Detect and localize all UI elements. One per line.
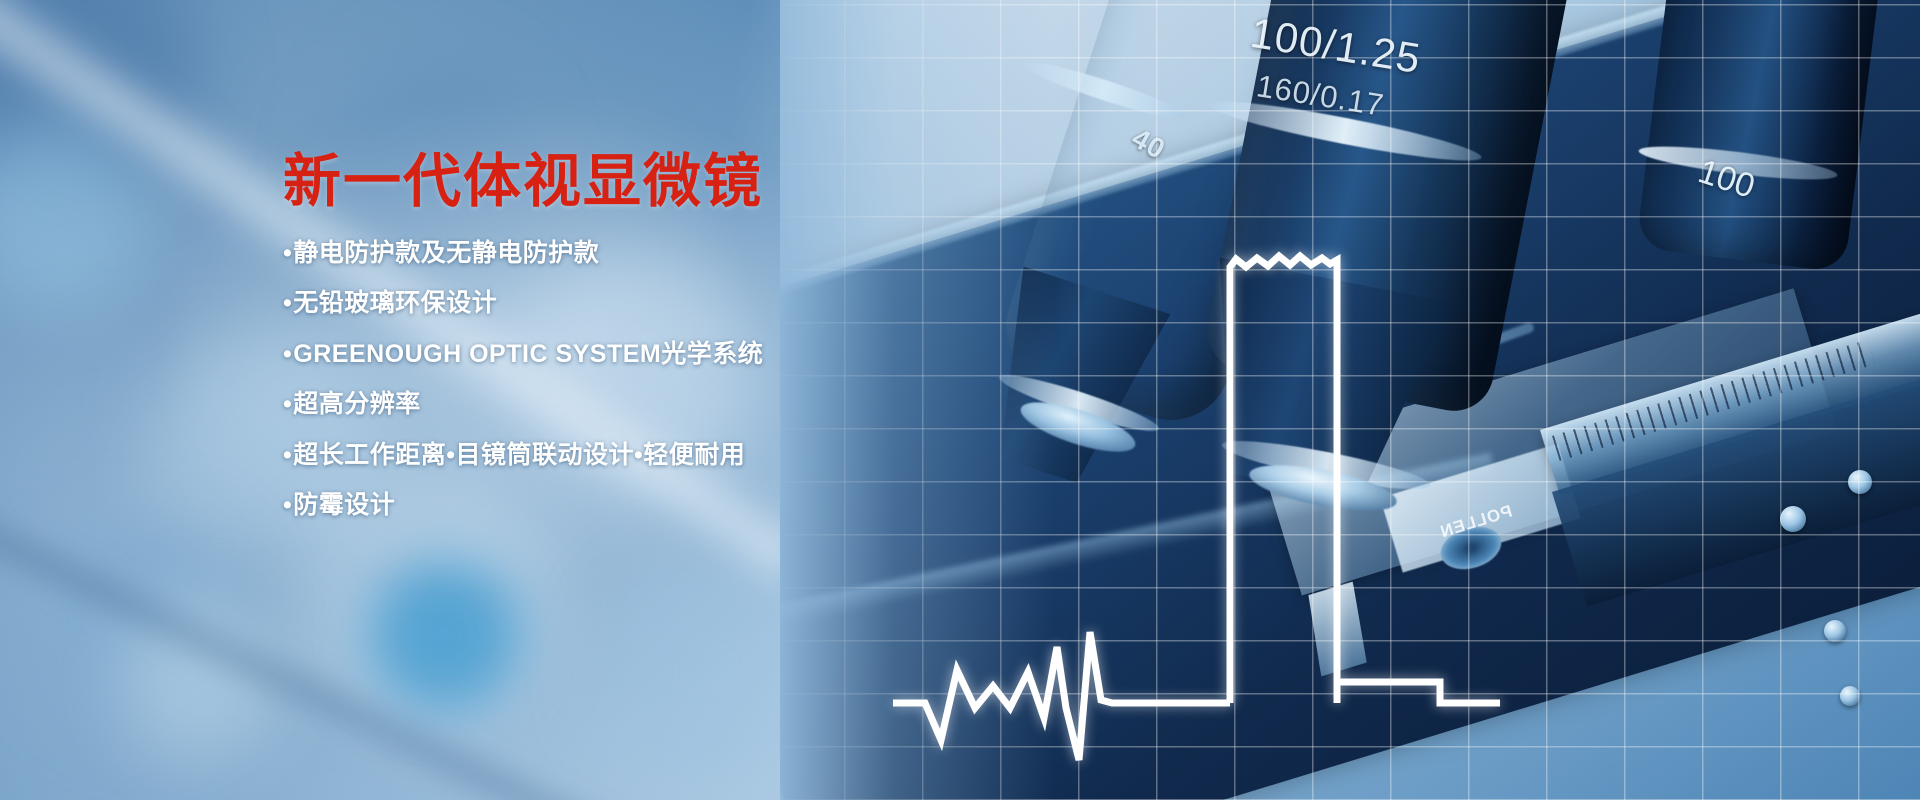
list-item: •静电防护款及无静电防护款 (283, 240, 1043, 268)
list-item: •GREENOUGH OPTIC SYSTEM光学系统 (283, 341, 1043, 369)
list-item-label: GREENOUGH OPTIC SYSTEM光学系统 (293, 340, 763, 368)
feature-list: •静电防护款及无静电防护款 •无铅玻璃环保设计 •GREENOUGH OPTIC… (283, 240, 1043, 520)
bullet-marker-icon: • (283, 390, 292, 418)
copy-block: 新一代体视显微镜 •静电防护款及无静电防护款 •无铅玻璃环保设计 •GREENO… (283, 150, 1043, 543)
list-item-label: 超高分辨率 (293, 390, 421, 418)
list-item: •超高分辨率 (283, 391, 1043, 419)
list-item-label: 防霉设计 (293, 491, 395, 519)
list-item: •防霉设计 (283, 492, 1043, 520)
list-item: •超长工作距离•目镜筒联动设计•轻便耐用 (283, 442, 1043, 470)
list-item-label: 超长工作距离•目镜筒联动设计•轻便耐用 (293, 441, 745, 469)
list-item: •无铅玻璃环保设计 (283, 290, 1043, 318)
bullet-marker-icon: • (283, 239, 292, 267)
list-item-label: 无铅玻璃环保设计 (293, 289, 497, 317)
promo-banner: POLLEN 40 100/1.25 160/0.17 100 (0, 0, 1920, 800)
bullet-marker-icon: • (283, 441, 292, 469)
bullet-marker-icon: • (283, 340, 292, 368)
bullet-marker-icon: • (283, 491, 292, 519)
page-title: 新一代体视显微镜 (283, 150, 1043, 214)
bullet-marker-icon: • (283, 289, 292, 317)
list-item-label: 静电防护款及无静电防护款 (293, 239, 599, 267)
